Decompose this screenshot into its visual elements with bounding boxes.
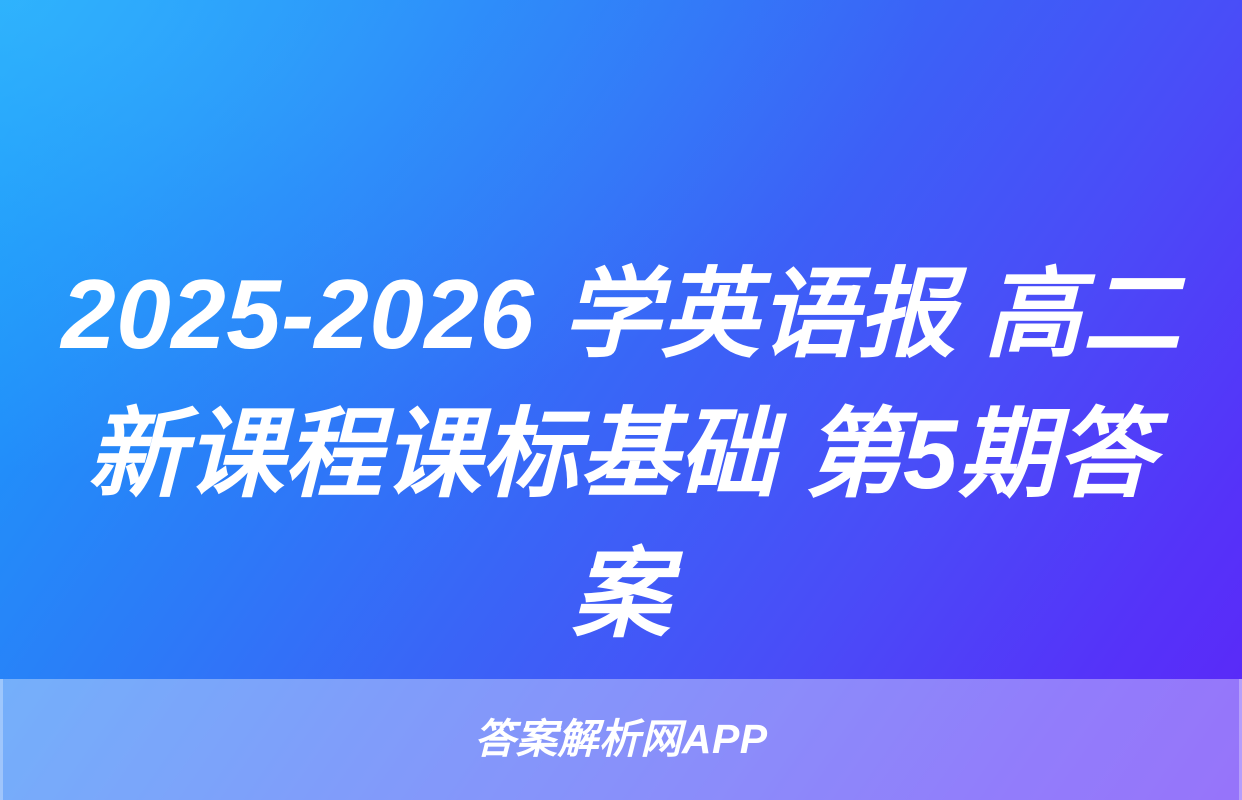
app-brand-banner: 答案解析网APP xyxy=(0,679,1242,800)
answer-poster: 2025-2026 学英语报 高二 新课程课标基础 第5期答案 答案解析网APP xyxy=(0,0,1242,800)
app-brand-label: 答案解析网APP xyxy=(474,719,767,760)
page-title: 2025-2026 学英语报 高二 新课程课标基础 第5期答案 xyxy=(0,244,1242,664)
